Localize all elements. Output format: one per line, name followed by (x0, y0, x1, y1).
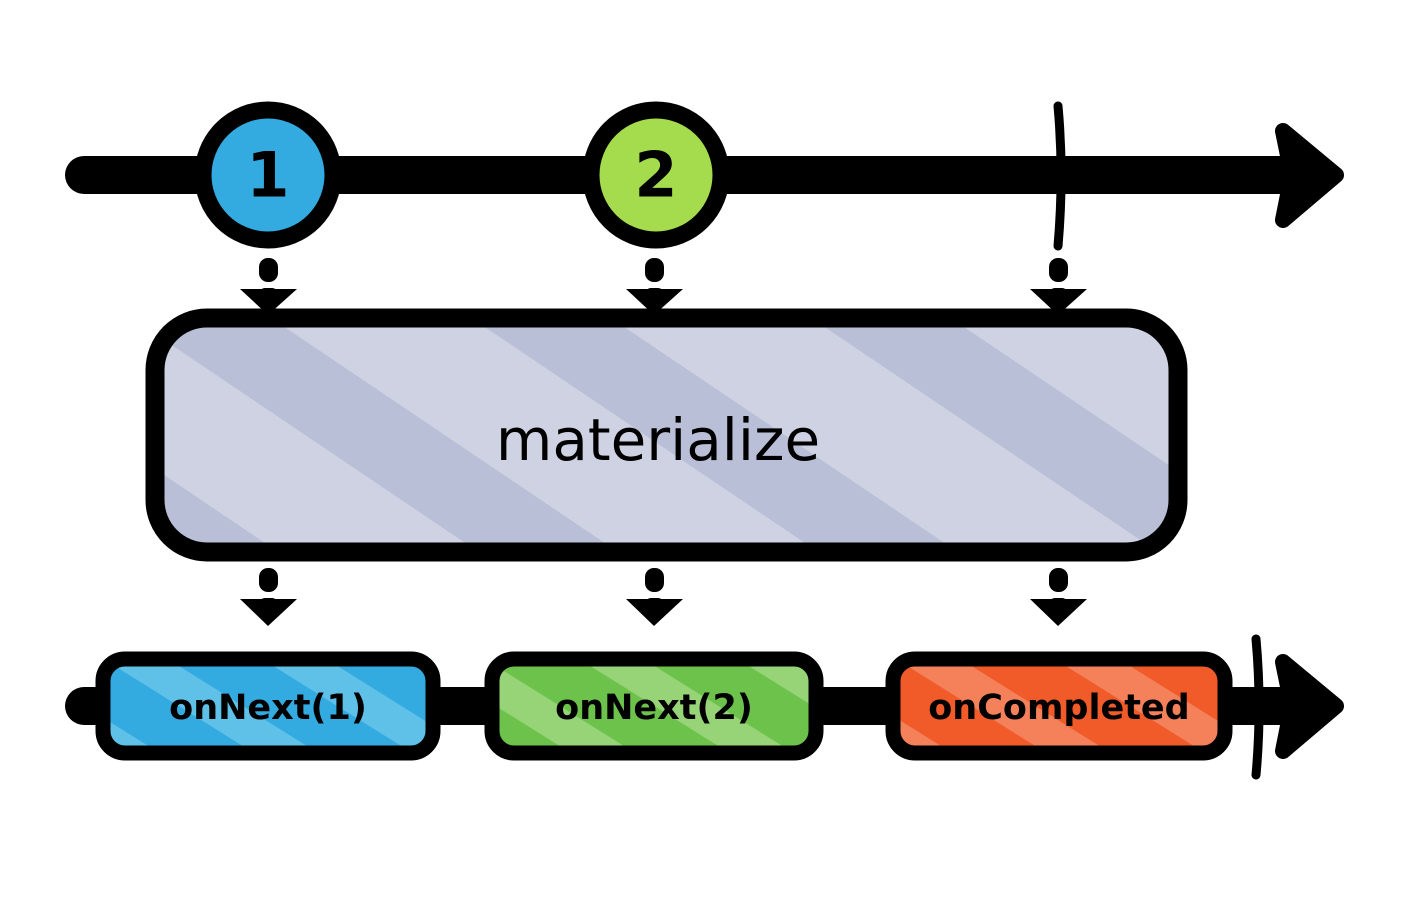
marble-value-label: 2 (634, 139, 677, 212)
materialize-operator-box[interactable]: materialize (155, 318, 1178, 552)
operator-box-label: materialize (496, 406, 820, 474)
notification-box-onnext-1[interactable]: onNext(1) (103, 659, 433, 753)
notification-box-onnext-2[interactable]: onNext(2) (492, 659, 816, 753)
marble-value-label: 1 (246, 139, 289, 212)
source-marble-2[interactable]: 2 (591, 110, 721, 240)
source-completion-bar (1058, 106, 1061, 246)
source-timeline-arrowhead (1283, 131, 1336, 220)
top-connectors (240, 258, 1087, 315)
notification-label: onNext(2) (555, 688, 753, 728)
materialize-marble-diagram: 1 2 (0, 0, 1401, 901)
notification-box-oncompleted[interactable]: onCompleted (893, 659, 1225, 753)
source-marble-1[interactable]: 1 (203, 110, 333, 240)
notification-label: onNext(1) (169, 688, 367, 728)
bottom-connectors (240, 568, 1087, 626)
connector-arrow-4 (240, 568, 297, 626)
marble-diagram-canvas: 1 2 (0, 0, 1401, 901)
connector-arrow-1 (240, 258, 297, 315)
connector-arrow-6 (1030, 568, 1087, 626)
result-completion-bar (1256, 639, 1259, 775)
connector-arrow-3 (1030, 258, 1087, 315)
notification-label: onCompleted (928, 688, 1189, 728)
connector-arrow-5 (626, 568, 683, 626)
result-timeline-arrowhead (1283, 662, 1336, 751)
source-timeline: 1 2 (84, 106, 1336, 246)
connector-arrow-2 (626, 258, 683, 315)
result-timeline: onNext(1) onNext(2) onCompleted (84, 639, 1336, 775)
